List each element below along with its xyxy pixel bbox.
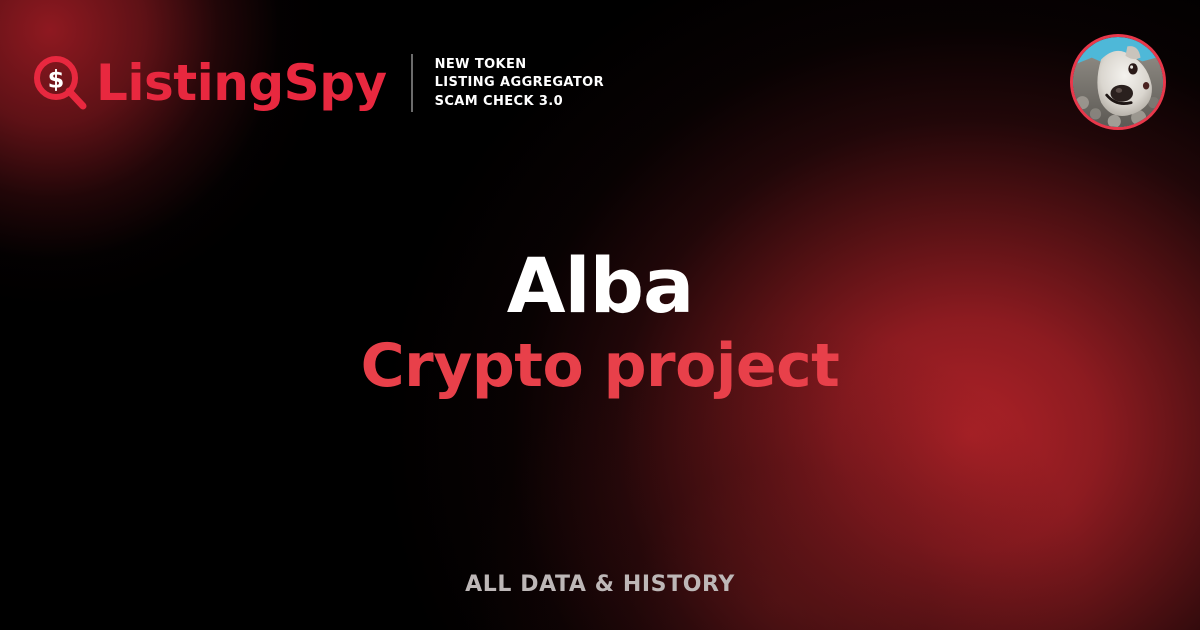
svg-text:$: $ bbox=[48, 66, 65, 94]
preview-card: $ ListingSpy NEW TOKEN LISTING AGGREGATO… bbox=[0, 0, 1200, 630]
brand-tagline: NEW TOKEN LISTING AGGREGATOR SCAM CHECK … bbox=[435, 57, 604, 109]
project-name: Alba bbox=[0, 246, 1200, 327]
project-title-block: Alba Crypto project bbox=[0, 246, 1200, 400]
brand-name[interactable]: ListingSpy bbox=[96, 58, 387, 108]
magnifier-dollar-icon: $ bbox=[34, 56, 88, 110]
project-category: Crypto project bbox=[0, 333, 1200, 400]
tagline-line-3: SCAM CHECK 3.0 bbox=[435, 94, 604, 109]
footer-text: ALL DATA & HISTORY bbox=[465, 572, 735, 597]
project-avatar[interactable] bbox=[1070, 34, 1166, 130]
footer-caption: ALL DATA & HISTORY bbox=[0, 572, 1200, 597]
header-divider bbox=[411, 54, 413, 112]
site-header: $ ListingSpy NEW TOKEN LISTING AGGREGATO… bbox=[34, 54, 604, 112]
tagline-line-2: LISTING AGGREGATOR bbox=[435, 75, 604, 90]
tagline-line-1: NEW TOKEN bbox=[435, 57, 604, 72]
